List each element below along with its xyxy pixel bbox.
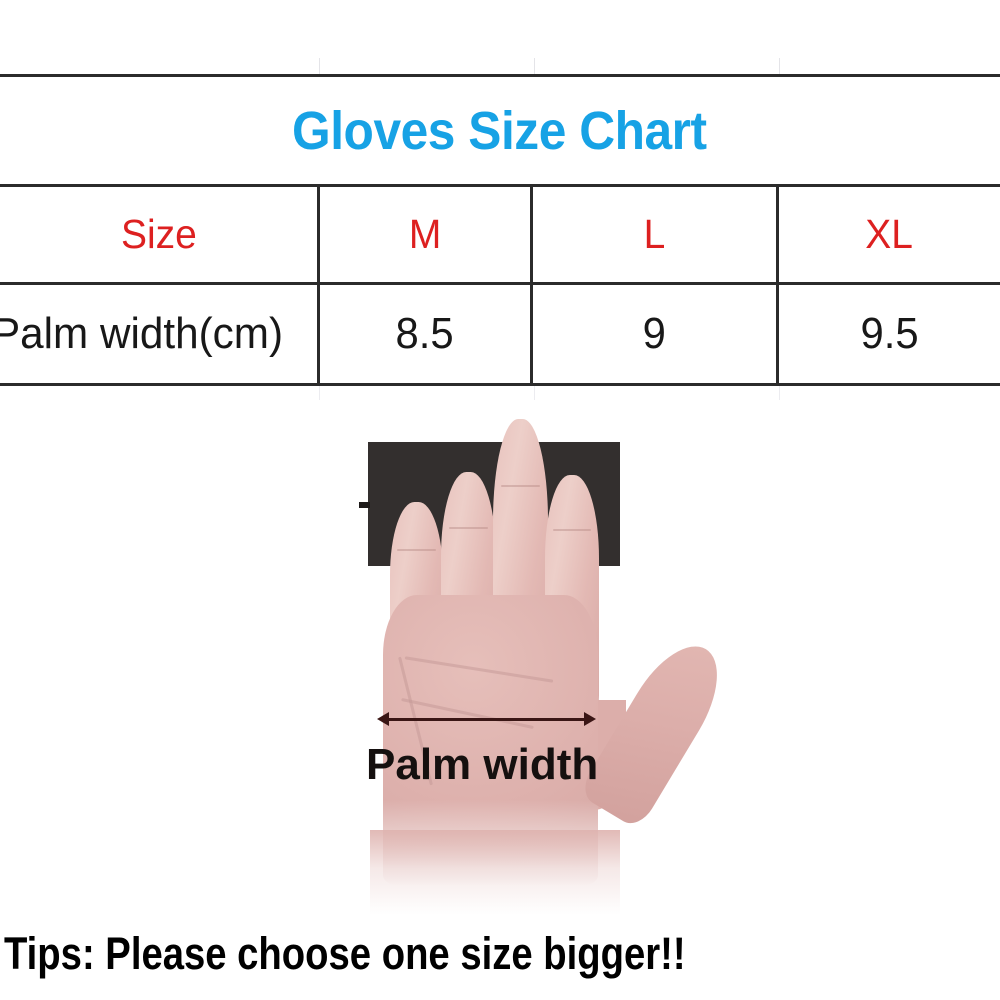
row-label-cell-palm-width: Palm width(cm) <box>0 285 317 383</box>
row-label-palm-width: Palm width(cm) <box>0 309 283 359</box>
hand-wrist-fade <box>370 830 620 915</box>
header-cell-size: Size <box>0 187 317 282</box>
table-header-row: Size M L XL <box>0 187 1000 282</box>
size-chart-table: Gloves Size Chart Size M L XL Palm width… <box>0 74 1000 386</box>
column-tick-mark-3 <box>779 58 780 74</box>
column-tick-mark-bottom-1 <box>319 386 320 400</box>
header-label-xl: XL <box>866 211 914 258</box>
data-cell-l: 9 <box>533 285 776 383</box>
data-cell-m: 8.5 <box>320 285 530 383</box>
header-label-m: M <box>409 211 441 258</box>
column-tick-mark-2 <box>534 58 535 74</box>
data-value-l: 9 <box>643 309 666 359</box>
header-label-size: Size <box>121 211 197 258</box>
table-row: Palm width(cm) 8.5 9 9.5 <box>0 285 1000 383</box>
data-value-xl: 9.5 <box>860 309 918 359</box>
hand-measurement-illustration: Palm width <box>0 400 1000 900</box>
tips-note: Tips: Please choose one size bigger!! <box>4 928 686 980</box>
palm-width-caption: Palm width <box>366 740 598 790</box>
data-cell-xl: 9.5 <box>779 285 1000 383</box>
header-cell-l: L <box>533 187 776 282</box>
page-title: Gloves Size Chart <box>292 100 707 162</box>
palm-width-arrow-icon <box>388 718 585 721</box>
column-tick-mark-bottom-2 <box>534 386 535 400</box>
header-label-l: L <box>644 211 666 258</box>
header-cell-xl: XL <box>779 187 1000 282</box>
table-rule-bottom <box>0 383 1000 386</box>
panel-edge-tick <box>359 502 370 508</box>
column-tick-mark-bottom-3 <box>779 386 780 400</box>
column-tick-mark-1 <box>319 58 320 74</box>
size-chart-page: Gloves Size Chart Size M L XL Palm width… <box>0 0 1000 1000</box>
header-cell-m: M <box>320 187 530 282</box>
data-value-m: 8.5 <box>396 309 454 359</box>
table-title-row: Gloves Size Chart <box>0 77 1000 184</box>
